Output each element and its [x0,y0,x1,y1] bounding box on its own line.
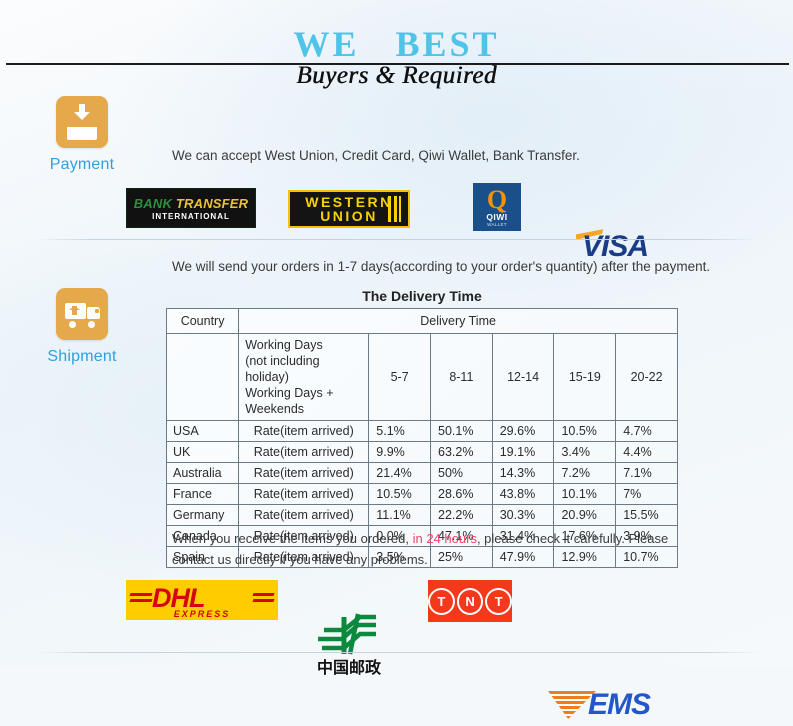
tnt-letter-3: T [485,588,512,615]
note-text-before: When you receive the items you ordered, [172,531,413,546]
cell-country-australia: Australia [167,463,239,484]
carrier-logos: DHL EXPRESS 中国邮政 T N T [0,0,152,146]
table-row: UKRate(item arrived)9.9%63.2%19.1%3.4%4.… [167,442,678,463]
bank-transfer-word2: TRANSFER [176,196,248,211]
cell-value-2-2: 63.2% [431,442,493,463]
china-post-mark-icon [314,612,382,656]
section-divider-1 [36,239,760,240]
note-line-2: contact us directly if you have any prob… [172,552,428,567]
working-days-cell: Working Days(not including holiday)Worki… [239,334,369,421]
tnt-letter-2: N [457,588,484,615]
shipment-icon-column: Shipment [12,288,152,366]
cell-rate-label: Rate(item arrived) [239,421,369,442]
shipment-description: We will send your orders in 1-7 days(acc… [172,257,772,276]
cell-value-2-5: 4.4% [616,442,678,463]
cell-value-1-3: 29.6% [492,421,554,442]
working-days-line-1: Working Days [245,337,364,353]
dhl-express-subtext: EXPRESS [126,609,278,619]
cell-value-3-1: 21.4% [369,463,431,484]
qiwi-subtext: WALLET [487,222,507,227]
cell-value-3-4: 7.2% [554,463,616,484]
cell-value-1-4: 10.5% [554,421,616,442]
cell-country-usa: USA [167,421,239,442]
cell-country-france: France [167,484,239,505]
bucket-header-3: 12-14 [492,334,554,421]
china-post-wordmark: 中国邮政 [306,654,392,678]
cell-value-5-3: 30.3% [492,505,554,526]
shipment-label: Shipment [12,348,152,366]
bucket-header-1: 5-7 [369,334,431,421]
page-root: WE BEST Buyers & Required Payment We can… [0,0,793,667]
cell-value-1-2: 50.1% [431,421,493,442]
table-row: USARate(item arrived)5.1%50.1%29.6%10.5%… [167,421,678,442]
table-row: AustraliaRate(item arrived)21.4%50%14.3%… [167,463,678,484]
header-delivery-time: Delivery Time [239,309,678,334]
western-union-line1: WESTERN [305,195,393,209]
bank-transfer-logo: BANK TRANSFER INTERNATIONAL [126,188,256,228]
cell-value-3-2: 50% [431,463,493,484]
tnt-letter-1: T [428,588,455,615]
qiwi-logo: Q QIWI WALLET [473,183,521,231]
western-union-logo: WESTERN UNION [288,190,410,228]
cell-country-germany: Germany [167,505,239,526]
cell-value-5-2: 22.2% [431,505,493,526]
cell-value-3-5: 7.1% [616,463,678,484]
cell-value-3-3: 14.3% [492,463,554,484]
cell-value-5-5: 15.5% [616,505,678,526]
cell-value-2-1: 9.9% [369,442,431,463]
working-days-line-2: (not including holiday) [245,353,364,385]
cell-rate-label: Rate(item arrived) [239,463,369,484]
tnt-logo: T N T [428,580,512,622]
cell-rate-label: Rate(item arrived) [239,484,369,505]
bucket-header-4: 15-19 [554,334,616,421]
table-row: FranceRate(item arrived)10.5%28.6%43.8%1… [167,484,678,505]
cell-value-2-3: 19.1% [492,442,554,463]
note-highlight: in 24 hours [413,531,477,546]
truck-icon [56,288,108,340]
payment-label: Payment [12,156,152,174]
bucket-header-2: 8-11 [431,334,493,421]
cell-value-4-3: 43.8% [492,484,554,505]
section-divider-2 [36,652,760,653]
inspection-note: When you receive the items you ordered, … [172,528,712,570]
cell-value-4-2: 28.6% [431,484,493,505]
qiwi-q-glyph: Q [487,188,507,212]
cell-value-4-5: 7% [616,484,678,505]
cell-rate-label: Rate(item arrived) [239,442,369,463]
qiwi-wordmark: QIWI [486,212,507,222]
cell-value-1-5: 4.7% [616,421,678,442]
bucket-header-5: 20-22 [616,334,678,421]
header-country: Country [167,309,239,334]
working-days-line-3: Working Days + Weekends [245,385,364,417]
cell-rate-label: Rate(item arrived) [239,505,369,526]
note-text-after: , please check it carefully. Please [477,531,668,546]
western-union-line2: UNION [320,209,378,223]
cell-value-5-4: 20.9% [554,505,616,526]
delivery-table-title: The Delivery Time [166,288,678,304]
cell-value-4-1: 10.5% [369,484,431,505]
cell-country-uk: UK [167,442,239,463]
cell-value-4-4: 10.1% [554,484,616,505]
table-header-row-2: Working Days(not including holiday)Worki… [167,334,678,421]
ems-logo: EMS [548,686,668,726]
western-union-bars-icon [388,196,402,222]
ems-wordmark: EMS [588,688,650,722]
payment-description: We can accept West Union, Credit Card, Q… [172,146,732,165]
table-row: GermanyRate(item arrived)11.1%22.2%30.3%… [167,505,678,526]
bank-transfer-subtext: INTERNATIONAL [152,212,230,221]
cell-value-5-1: 11.1% [369,505,431,526]
header-blank-cell [167,334,239,421]
china-post-logo: 中国邮政 [306,612,392,678]
cell-value-2-4: 3.4% [554,442,616,463]
cell-value-1-1: 5.1% [369,421,431,442]
bank-transfer-word1: BANK [134,196,176,211]
table-header-row-1: CountryDelivery Time [167,309,678,334]
dhl-logo: DHL EXPRESS [126,580,278,620]
